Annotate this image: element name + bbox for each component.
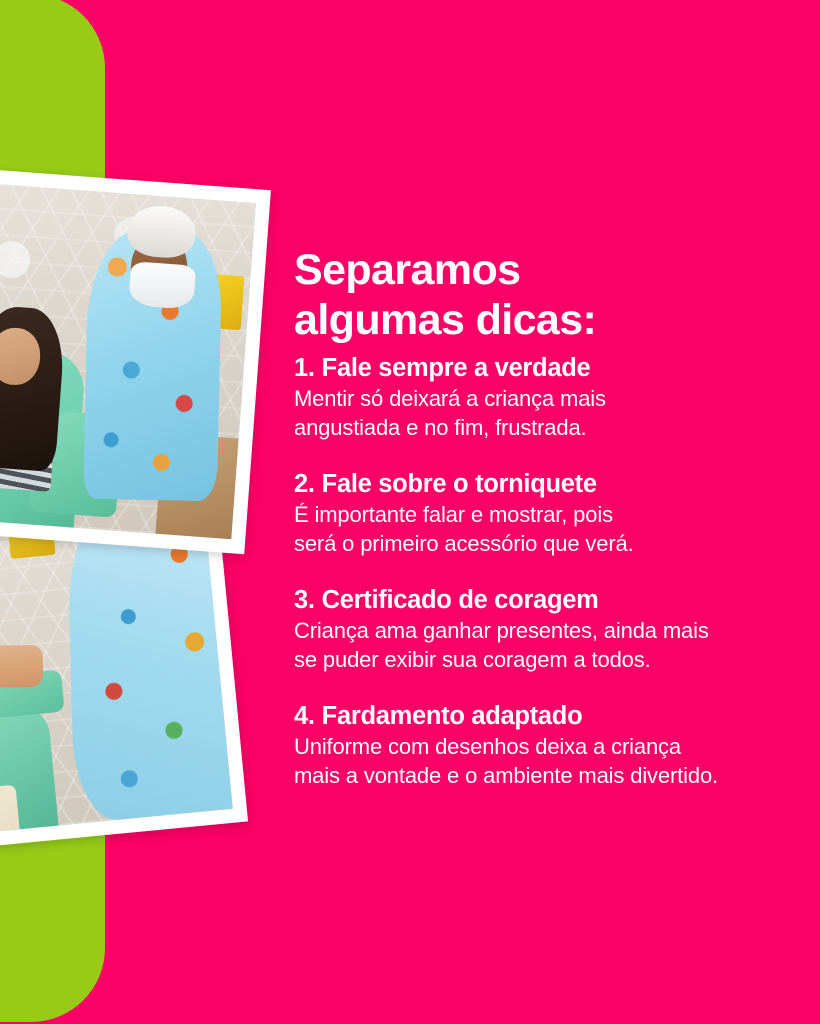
tip-4-number: 4. — [294, 700, 315, 732]
page-title: Separamos algumas dicas: — [294, 245, 596, 345]
tip-2-number: 2. — [294, 468, 315, 500]
tip-2-title: Fale sobre o torniquete — [322, 470, 597, 498]
tip-1-body: Mentir só deixará a criança mais angusti… — [294, 385, 764, 442]
tip-item-1: 1.Fale sempre a verdade Mentir só deixar… — [294, 352, 764, 442]
tip-1-number: 1. — [294, 352, 315, 384]
tip-item-2: 2.Fale sobre o torniquete É importante f… — [294, 468, 764, 558]
tip-3-heading: 3.Certificado de coragem — [294, 584, 764, 616]
tip-item-3: 3.Certificado de coragem Criança ama gan… — [294, 584, 764, 674]
tip-1-title: Fale sempre a verdade — [322, 354, 591, 382]
tip-2-body: É importante falar e mostrar, pois será … — [294, 501, 764, 558]
tip-4-title: Fardamento adaptado — [322, 702, 583, 730]
tip-item-4: 4.Fardamento adaptado Uniforme com desen… — [294, 700, 764, 790]
text-column: Separamos algumas dicas: 1.Fale sempre a… — [294, 0, 794, 1024]
child-arm — [0, 645, 43, 688]
tip-3-body: Criança ama ganhar presentes, ainda mais… — [294, 617, 764, 674]
tip-2-heading: 2.Fale sobre o torniquete — [294, 468, 764, 500]
photo-top — [0, 167, 271, 554]
tip-4-body: Uniforme com desenhos deixa a criança ma… — [294, 733, 764, 790]
photo-collage — [0, 0, 290, 880]
poster-canvas: Separamos algumas dicas: 1.Fale sempre a… — [0, 0, 820, 1024]
tip-1-heading: 1.Fale sempre a verdade — [294, 352, 764, 384]
photo-top-frame — [0, 182, 256, 539]
tip-4-heading: 4.Fardamento adaptado — [294, 700, 764, 732]
tip-3-title: Certificado de coragem — [322, 586, 599, 614]
tip-3-number: 3. — [294, 584, 315, 616]
tips-list: 1.Fale sempre a verdade Mentir só deixar… — [294, 352, 764, 816]
